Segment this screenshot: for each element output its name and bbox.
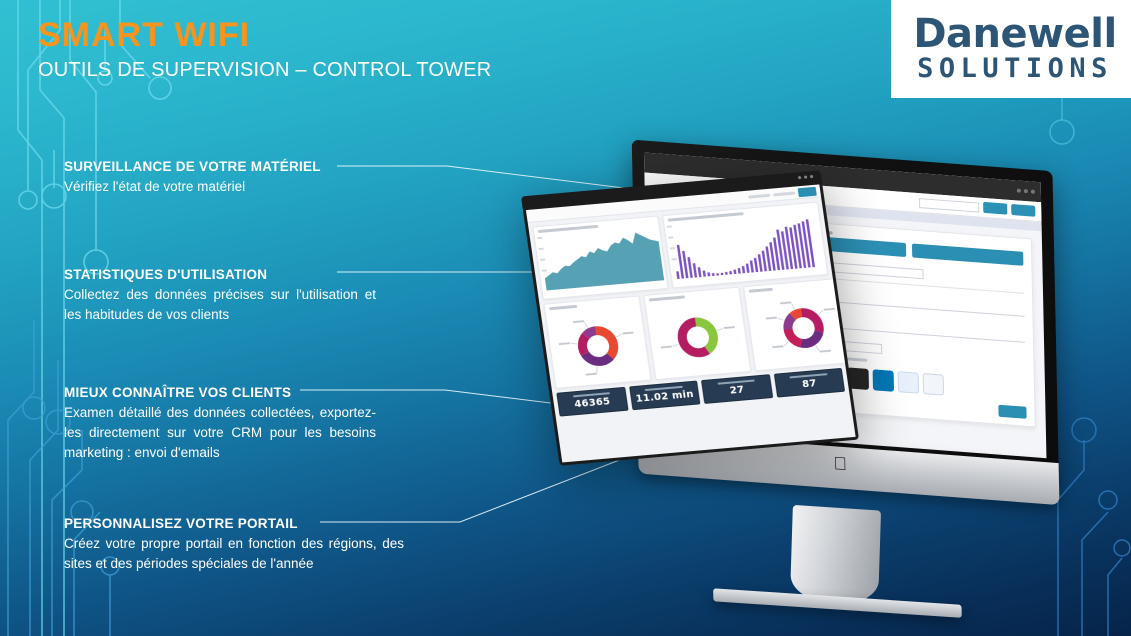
kpi-value: 46365 <box>561 396 625 411</box>
panel-donut-devices <box>543 295 651 389</box>
dashboard-action-button[interactable] <box>798 186 817 196</box>
portal-search-input[interactable] <box>919 198 979 213</box>
portal-settings-button[interactable] <box>1011 204 1035 217</box>
save-button[interactable] <box>998 405 1026 419</box>
feature-title: STATISTIQUES D'UTILISATION <box>64 267 376 282</box>
dashboard-screen: 46365 11.02 min 27 87 <box>526 184 856 462</box>
kpi-value: 87 <box>778 377 842 392</box>
feature-title: SURVEILLANCE DE VOTRE MATÉRIEL <box>64 159 394 174</box>
feature-body: Vérifiez l'état de votre matériel <box>64 177 394 197</box>
wifi-target-icon[interactable] <box>923 373 944 396</box>
feature-body: Collectez des données précises sur l'uti… <box>64 285 376 325</box>
kpi-value: 11.02 min <box>633 390 697 405</box>
imac-stand-neck <box>790 505 881 606</box>
toolbar-menu-item[interactable] <box>773 191 795 196</box>
window-dot-icon <box>1031 190 1035 194</box>
dashboard-frame: 46365 11.02 min 27 87 <box>521 170 859 465</box>
logo-tagline: SOLUTIONS <box>917 55 1113 83</box>
page-subtitle: OUTILS DE SUPERVISION – CONTROL TOWER <box>38 59 491 82</box>
feature-body: Examen détaillé des données collectées, … <box>64 403 376 463</box>
upload-background-button[interactable] <box>912 243 1023 265</box>
thumbs-up-icon[interactable] <box>898 371 919 394</box>
feature-callout-statistiques: STATISTIQUES D'UTILISATION Collectez des… <box>64 267 376 325</box>
kpi-tile: 46365 <box>556 387 628 417</box>
area-chart <box>539 225 665 291</box>
window-dot-icon <box>1024 189 1028 193</box>
portal-save-button[interactable] <box>983 202 1007 215</box>
panel-bar-chart <box>662 202 828 289</box>
feature-callout-surveillance: SURVEILLANCE DE VOTRE MATÉRIEL Vérifiez … <box>64 159 394 197</box>
window-dot-icon <box>798 176 801 179</box>
feature-callout-clients: MIEUX CONNAÎTRE VOS CLIENTS Examen détai… <box>64 385 376 463</box>
donut-chart-devices <box>550 305 646 380</box>
window-dot-icon <box>1017 188 1021 192</box>
brand-logo: Danewell SOLUTIONS <box>891 0 1131 98</box>
toolbar-menu-item[interactable] <box>748 193 770 198</box>
kpi-tile: 11.02 min <box>629 381 701 411</box>
dashboard-panels <box>528 197 846 393</box>
unit-select[interactable] <box>842 341 882 354</box>
kpi-tile: 87 <box>773 368 845 398</box>
bar-chart <box>668 211 816 279</box>
feature-title: MIEUX CONNAÎTRE VOS CLIENTS <box>64 385 376 400</box>
feature-callout-portail: PERSONNALISEZ VOTRE PORTAIL Créez votre … <box>64 516 404 574</box>
slide-header: SMART WIFI OUTILS DE SUPERVISION – CONTR… <box>38 18 491 82</box>
window-controls <box>798 175 813 179</box>
donut-chart-visitors <box>650 296 746 371</box>
logo-wordmark: Danewell <box>913 15 1116 53</box>
window-dot-icon <box>810 175 813 178</box>
kpi-tile: 27 <box>701 374 773 404</box>
page-title: SMART WIFI <box>38 18 491 54</box>
linkedin-icon[interactable] <box>873 369 894 392</box>
feature-title: PERSONNALISEZ VOTRE PORTAIL <box>64 516 404 531</box>
window-dot-icon <box>804 175 807 178</box>
panel-area-chart <box>532 216 668 300</box>
dashboard-window-mockup: 46365 11.02 min 27 87 <box>521 170 859 465</box>
panel-donut-visitors <box>643 287 751 381</box>
kpi-value: 27 <box>705 383 769 398</box>
apple-logo-icon:  <box>833 454 848 473</box>
slide-canvas: SMART WIFI OUTILS DE SUPERVISION – CONTR… <box>0 0 1131 636</box>
feature-body: Créez votre propre portail en fonction d… <box>64 534 404 574</box>
